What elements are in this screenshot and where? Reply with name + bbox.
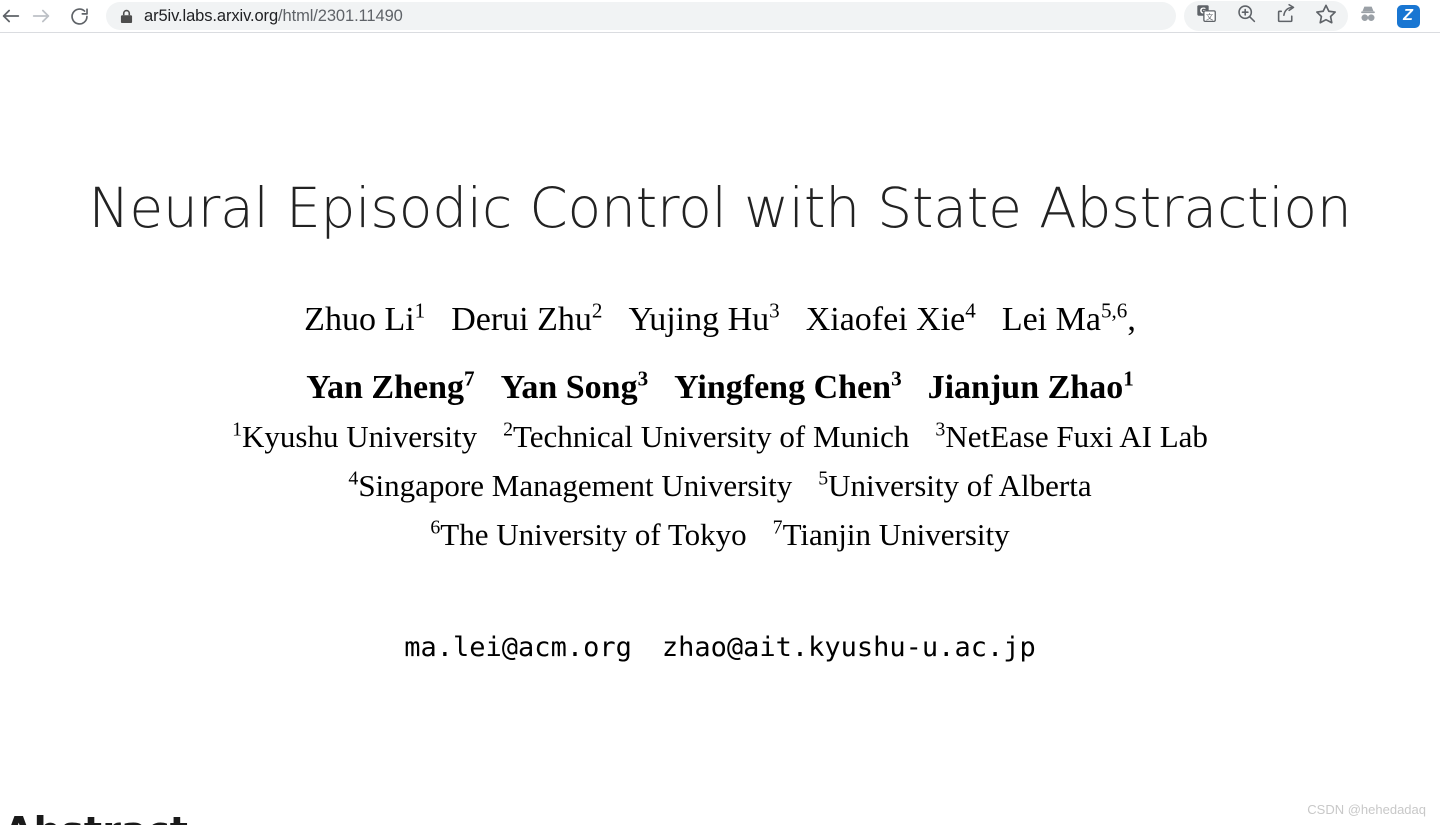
author-trailing-punctuation: , [1127,301,1136,338]
author-line-1: Zhuo Li1Derui Zhu2Yujing Hu3Xiaofei Xie4… [0,302,1440,338]
extension-button[interactable]: Z [1388,1,1428,31]
author-line-2: Yan Zheng7Yan Song3Yingfeng Chen3Jianjun… [0,370,1440,406]
lock-icon[interactable] [120,9,133,24]
affiliation-name: Tianjin University [783,517,1010,552]
bookmark-button[interactable] [1306,1,1346,31]
affiliation-marker: 3 [935,419,945,441]
page-title: Neural Episodic Control with State Abstr… [0,176,1440,240]
author-name: Jianjun Zhao [928,369,1124,406]
abstract-heading: Abstract [4,809,188,825]
author-affiliation-marker: 1 [1123,366,1134,390]
url-path: /html/2301.11490 [278,7,403,25]
author-block: Zhuo Li1Derui Zhu2Yujing Hu3Xiaofei Xie4… [0,302,1440,560]
affiliation-name: The University of Tokyo [440,517,746,552]
author-name: Yingfeng Chen [674,369,891,406]
author-name: Zhuo Li [304,301,414,338]
author-name: Yan Song [501,369,638,406]
share-icon [1276,3,1297,29]
affiliation-marker: 4 [348,468,358,490]
share-button[interactable] [1266,1,1306,31]
affiliation-name: Technical University of Munich [513,419,909,454]
zoom-icon [1236,3,1257,29]
toolbar-actions: G 文 [1184,1,1434,31]
author-affiliation-marker: 3 [638,366,649,390]
zoom-button[interactable] [1226,1,1266,31]
navigation-buttons [0,1,98,31]
email-address[interactable]: ma.lei@acm.org [404,632,632,663]
author-name: Derui Zhu [451,301,592,338]
author-affiliation-marker: 1 [415,299,426,323]
author-affiliation-marker: 7 [464,366,475,390]
browser-toolbar: ar5iv.labs.arxiv.org/html/2301.11490 G 文 [0,0,1440,33]
back-button[interactable] [0,1,22,31]
affiliation-marker: 7 [773,517,783,539]
affiliation-name: Kyushu University [242,419,477,454]
author-affiliation-marker: 5,6 [1101,299,1127,323]
address-bar[interactable]: ar5iv.labs.arxiv.org/html/2301.11490 [106,2,1176,30]
page-actions-pill: G 文 [1184,1,1348,31]
incognito-indicator[interactable] [1348,1,1388,31]
translate-icon: G 文 [1196,3,1217,29]
incognito-icon [1357,3,1379,30]
reload-button[interactable] [60,1,98,31]
affiliation-name: NetEase Fuxi AI Lab [945,419,1208,454]
url-text: ar5iv.labs.arxiv.org/html/2301.11490 [144,7,403,26]
affiliation-name: University of Alberta [828,468,1091,503]
extension-z-icon: Z [1397,5,1420,28]
affiliation-line-1: 1Kyushu University2Technical University … [0,413,1440,462]
affiliation-name: Singapore Management University [358,468,792,503]
forward-button[interactable] [22,1,60,31]
contact-emails: ma.lei@acm.orgzhao@ait.kyushu-u.ac.jp [0,632,1440,663]
author-affiliation-marker: 4 [965,299,976,323]
author-affiliation-marker: 3 [769,299,780,323]
author-affiliation-marker: 3 [891,366,902,390]
bookmark-star-icon [1315,3,1337,30]
affiliation-marker: 2 [503,419,513,441]
author-name: Lei Ma [1002,301,1101,338]
reload-icon [69,6,90,27]
affiliation-marker: 6 [430,517,440,539]
forward-arrow-icon [30,5,52,27]
author-name: Xiaofei Xie [806,301,966,338]
author-name: Yujing Hu [628,301,769,338]
author-name: Yan Zheng [306,369,464,406]
page-content: Neural Episodic Control with State Abstr… [0,34,1440,825]
watermark: CSDN @hehedadaq [1307,802,1426,817]
translate-button[interactable]: G 文 [1186,1,1226,31]
back-arrow-icon [0,5,22,27]
affiliation-marker: 5 [818,468,828,490]
svg-text:文: 文 [1205,11,1213,21]
affiliation-line-3: 6The University of Tokyo7Tianjin Univers… [0,511,1440,560]
affiliation-line-2: 4Singapore Management University5Univers… [0,462,1440,511]
email-address[interactable]: zhao@ait.kyushu-u.ac.jp [662,632,1036,663]
affiliation-marker: 1 [232,419,242,441]
url-domain: ar5iv.labs.arxiv.org [144,7,278,25]
author-affiliation-marker: 2 [592,299,603,323]
